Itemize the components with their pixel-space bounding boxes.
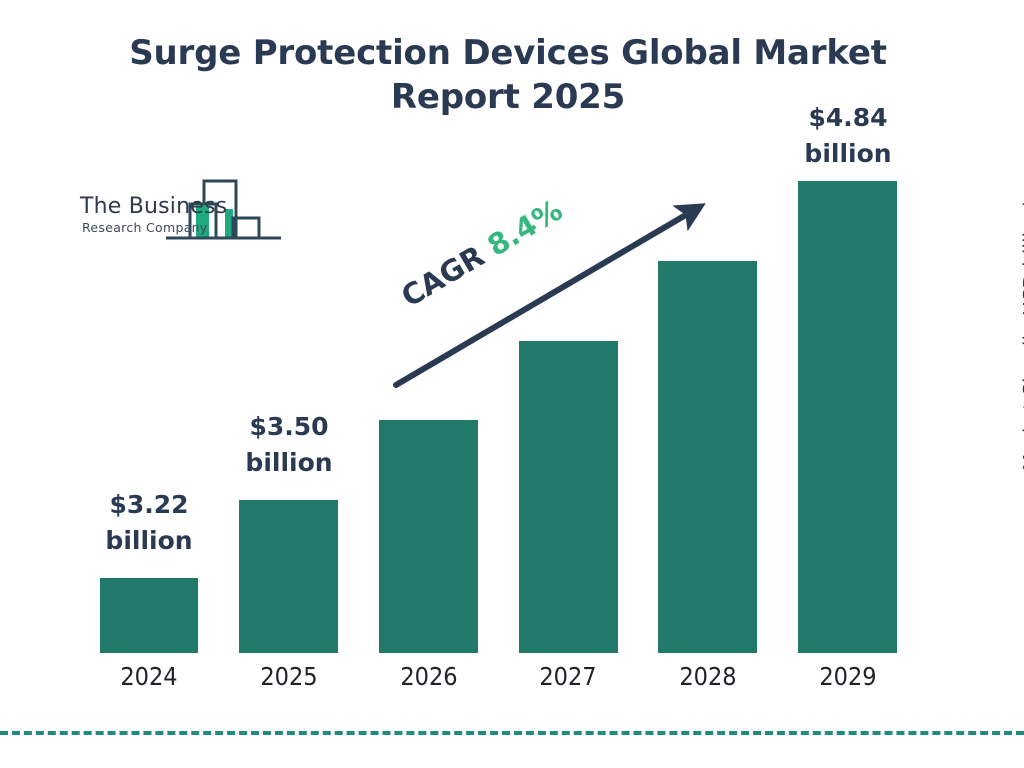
- footer-divider: [0, 731, 1024, 735]
- growth-arrow-icon: [0, 0, 1024, 768]
- y-axis-title: Market Size (in USD billion): [1019, 165, 1024, 505]
- chart-canvas: Surge Protection Devices Global Market R…: [0, 0, 1024, 768]
